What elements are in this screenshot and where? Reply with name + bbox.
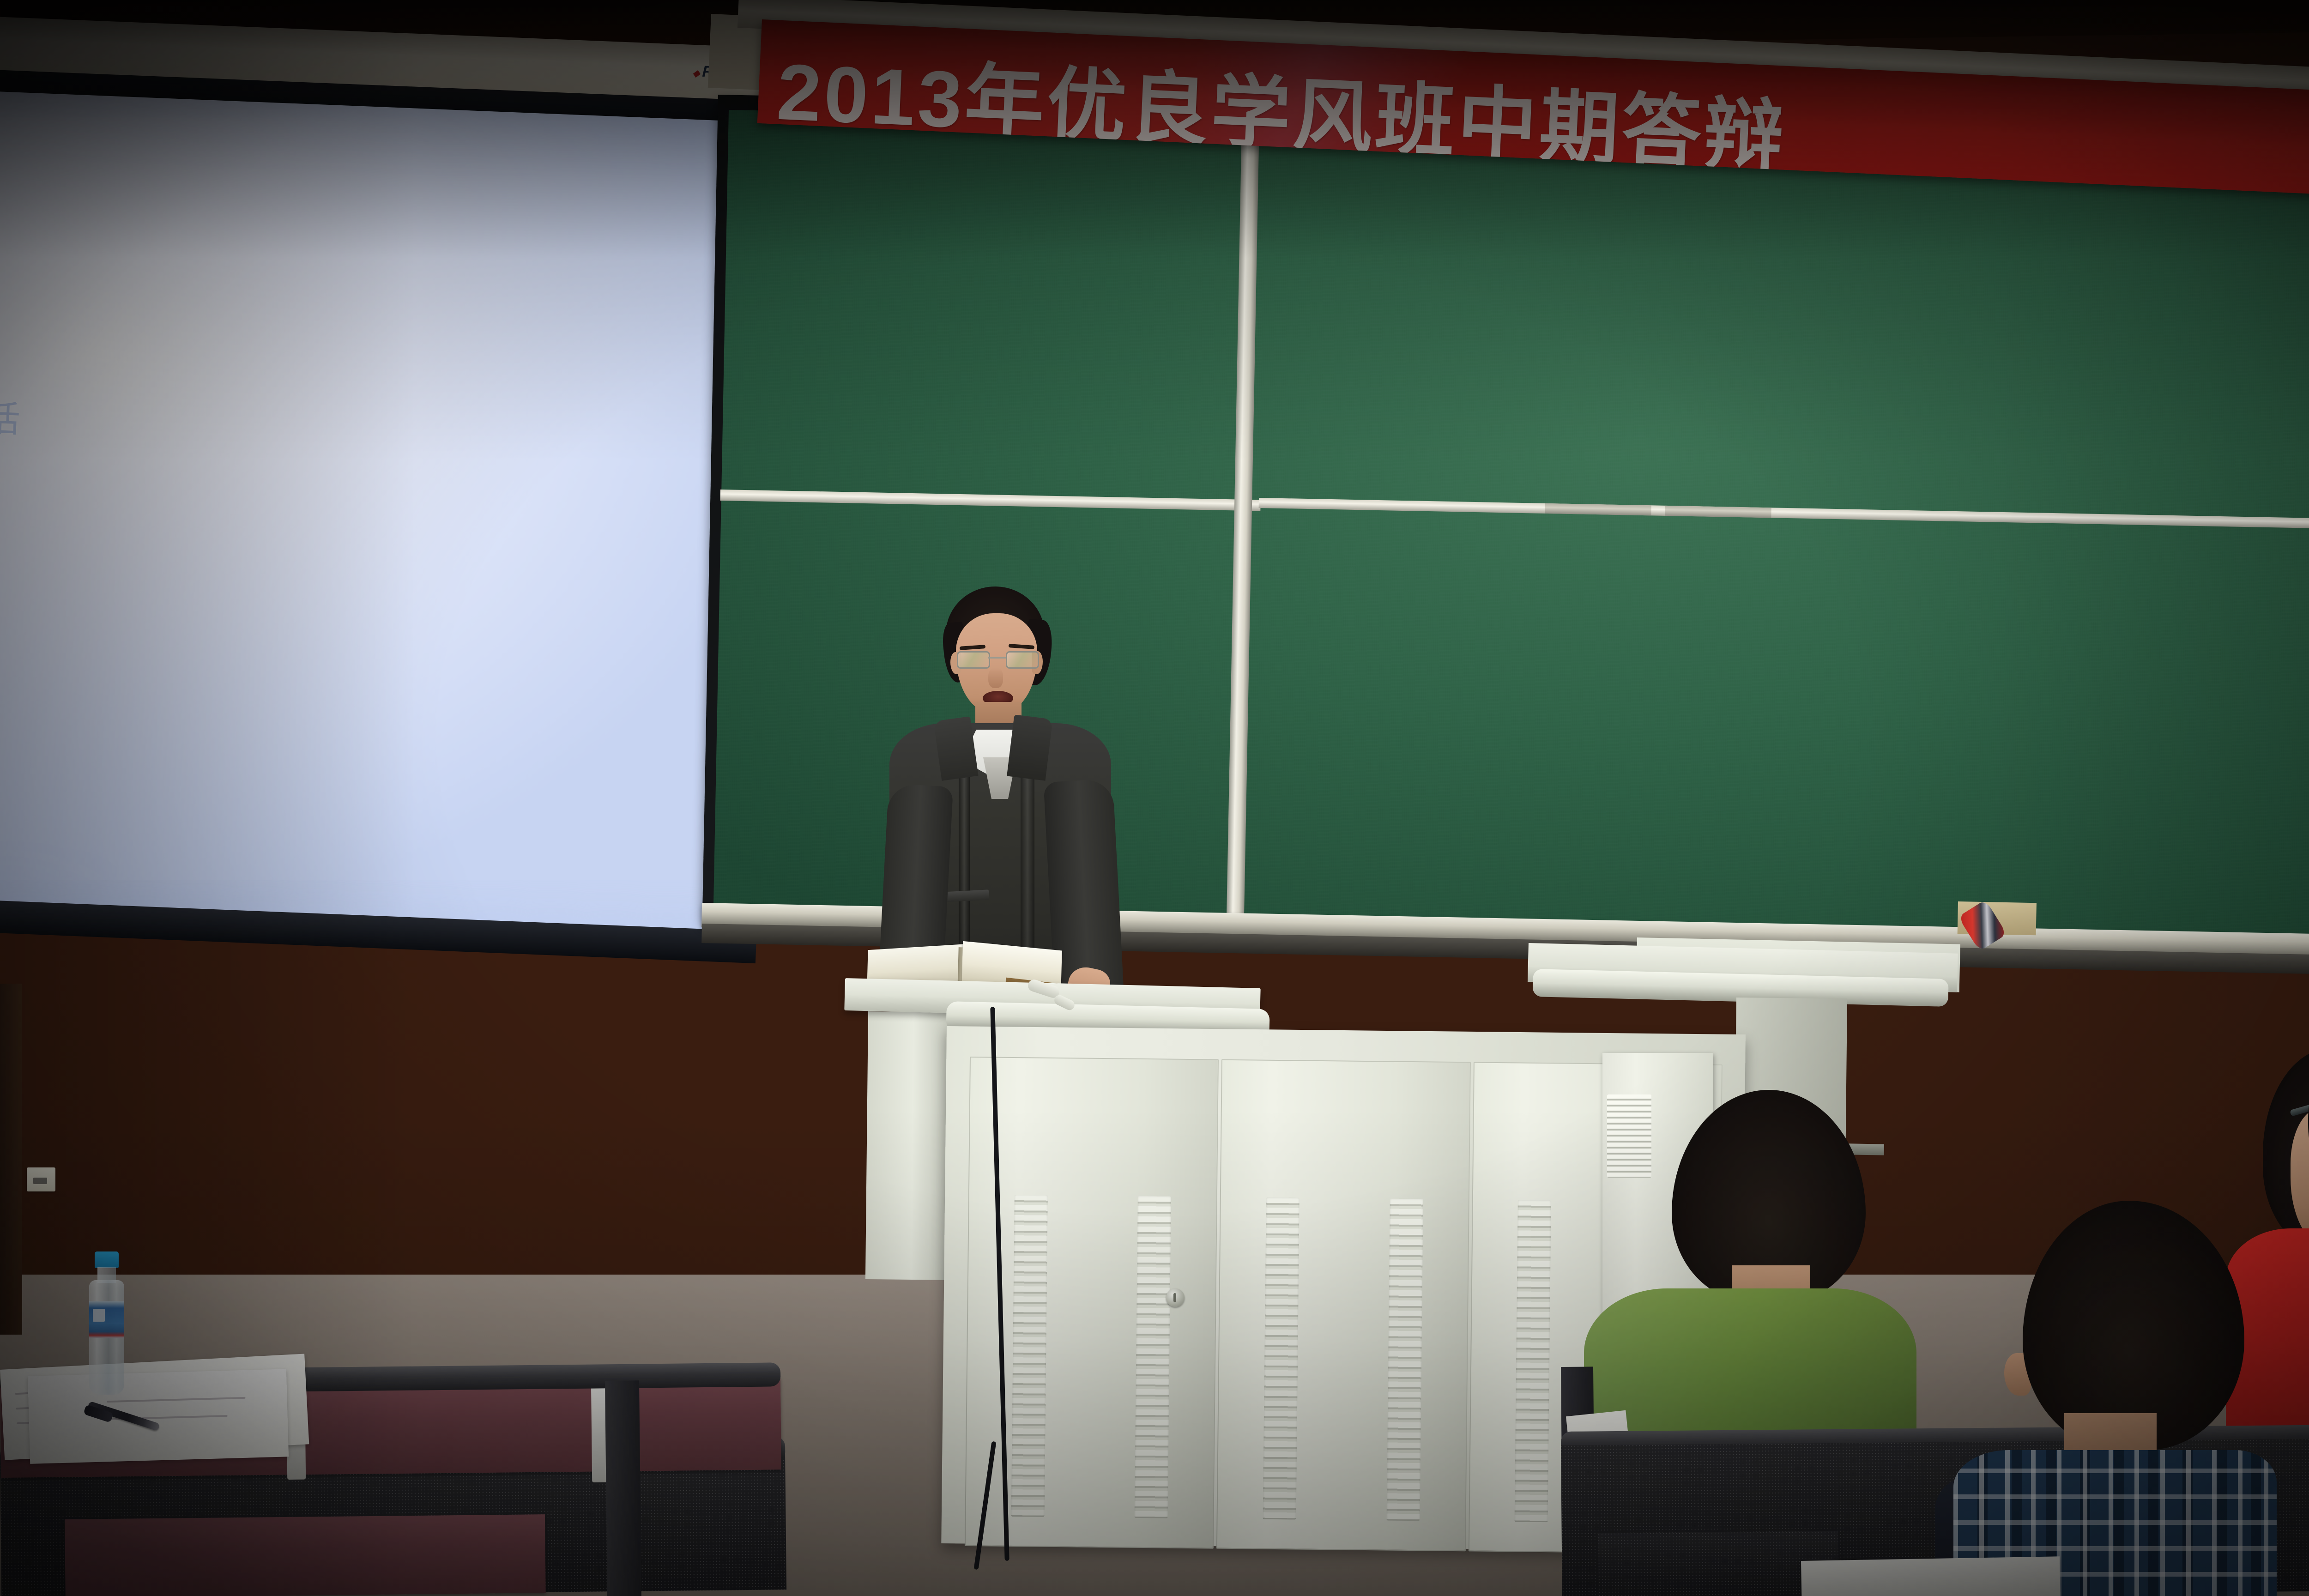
projection-screen-surface bbox=[0, 91, 766, 935]
lecture-hall-photo: Redleaf 讲话 2013年优良学风班中期答辩 bbox=[0, 0, 2309, 1596]
lock-icon[interactable] bbox=[1166, 1288, 1185, 1307]
bottle-label bbox=[89, 1301, 124, 1338]
wall-outlet-plate bbox=[27, 1167, 55, 1191]
glasses-icon bbox=[955, 651, 1039, 667]
slide-text: 讲话 bbox=[0, 388, 129, 447]
seat-tablet-right bbox=[1801, 1556, 2060, 1596]
speaker-nose bbox=[988, 668, 1003, 688]
door-jamb bbox=[0, 984, 22, 1335]
speaker-coat-collar-right bbox=[1007, 714, 1053, 780]
bottle-cap bbox=[95, 1251, 119, 1268]
podium-door-center[interactable] bbox=[1216, 1059, 1470, 1552]
paper-sheet-top bbox=[28, 1369, 289, 1464]
podium-neck bbox=[865, 1011, 951, 1280]
cabinet-vent-grille bbox=[1607, 1094, 1651, 1178]
vent-grille-center bbox=[1218, 1197, 1469, 1521]
seat-post-left bbox=[605, 1380, 641, 1596]
desk-tablet-left-lower bbox=[65, 1514, 546, 1596]
water-bottle bbox=[85, 1251, 128, 1395]
speaker-figure bbox=[840, 586, 1164, 1002]
